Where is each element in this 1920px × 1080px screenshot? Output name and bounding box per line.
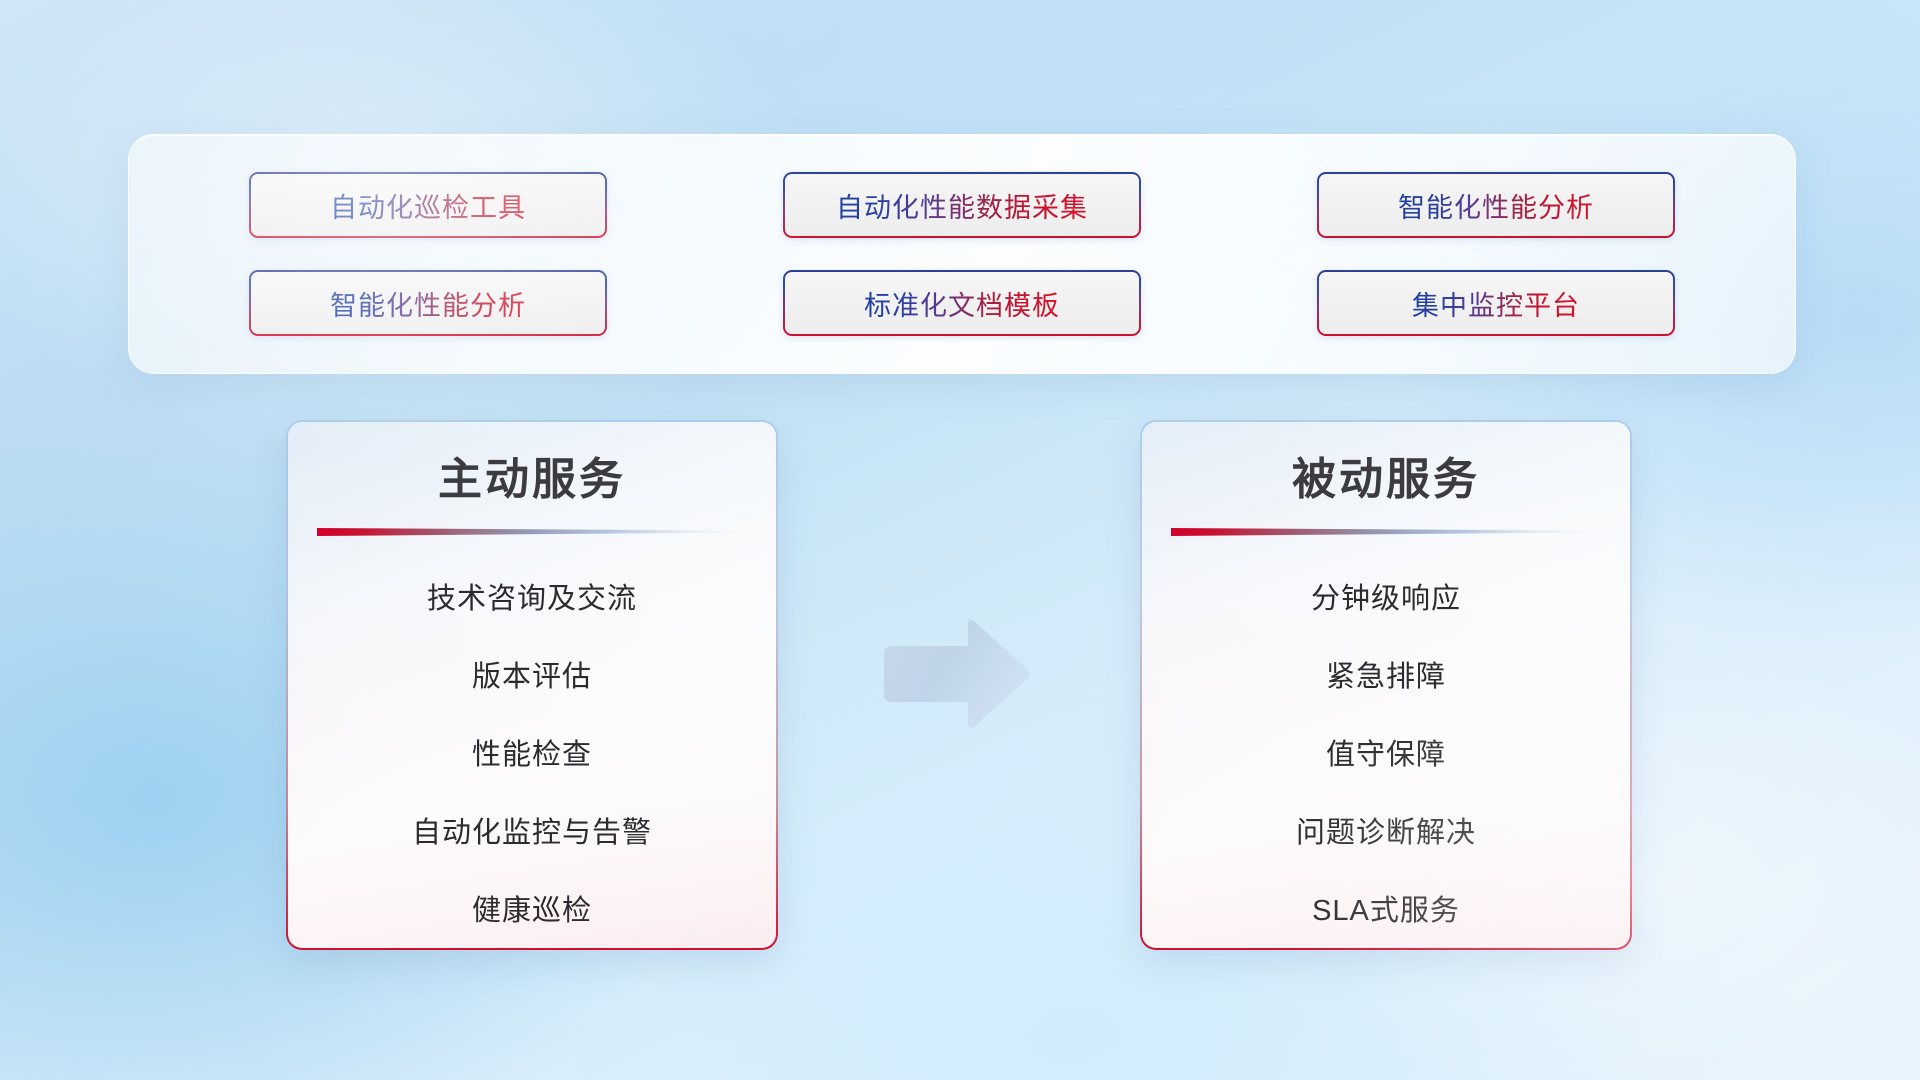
capability-tag[interactable]: 自动化巡检工具	[249, 172, 607, 238]
capability-tag-label: 集中监控平台	[1412, 284, 1580, 323]
capability-tag-label: 智能化性能分析	[330, 284, 526, 323]
service-item: 版本评估	[472, 649, 592, 706]
capability-tag-label: 自动化性能数据采集	[836, 186, 1088, 225]
service-item: 分钟级响应	[1311, 571, 1461, 628]
capability-tag[interactable]: 集中监控平台	[1317, 270, 1675, 336]
service-card-surface: 被动服务	[1142, 422, 1630, 948]
service-card-title: 主动服务	[438, 452, 626, 507]
capability-panel: 自动化巡检工具 自动化性能数据采集 智能化性能分析 智能化性能分析 标准化文档模…	[128, 134, 1796, 374]
service-item: 性能检查	[472, 727, 592, 784]
service-item-list: 分钟级响应 紧急排障 值守保障 问题诊断解决 SLA式服务	[1142, 571, 1630, 940]
capability-tag-surface: 自动化巡检工具	[251, 174, 605, 236]
service-item-list: 技术咨询及交流 版本评估 性能检查 自动化监控与告警 健康巡检	[288, 571, 776, 940]
service-item: 健康巡检	[472, 883, 592, 940]
title-divider	[317, 525, 747, 541]
capability-tag-surface: 标准化文档模板	[785, 272, 1139, 334]
service-item: 值守保障	[1326, 727, 1446, 784]
service-card-proactive: 主动服务	[286, 420, 778, 950]
arrow-right-icon	[876, 614, 1036, 734]
capability-tag[interactable]: 智能化性能分析	[1317, 172, 1675, 238]
service-item: 问题诊断解决	[1296, 805, 1476, 862]
service-item: 自动化监控与告警	[412, 805, 652, 862]
service-item: SLA式服务	[1312, 883, 1460, 940]
service-card-surface: 主动服务	[288, 422, 776, 948]
capability-tag-surface: 智能化性能分析	[1319, 174, 1673, 236]
capability-tag-label: 智能化性能分析	[1398, 186, 1594, 225]
capability-tag[interactable]: 标准化文档模板	[783, 270, 1141, 336]
service-card-reactive: 被动服务	[1140, 420, 1632, 950]
title-divider	[1171, 525, 1601, 541]
capability-tag-surface: 智能化性能分析	[251, 272, 605, 334]
service-item: 紧急排障	[1326, 649, 1446, 706]
service-item: 技术咨询及交流	[427, 571, 637, 628]
service-card-title: 被动服务	[1292, 452, 1480, 507]
capability-tag-surface: 自动化性能数据采集	[785, 174, 1139, 236]
capability-tag-surface: 集中监控平台	[1319, 272, 1673, 334]
capability-tag-label: 自动化巡检工具	[330, 186, 526, 225]
capability-tag[interactable]: 智能化性能分析	[249, 270, 607, 336]
capability-tag[interactable]: 自动化性能数据采集	[783, 172, 1141, 238]
capability-tag-label: 标准化文档模板	[864, 284, 1060, 323]
diagram-canvas: 自动化巡检工具 自动化性能数据采集 智能化性能分析 智能化性能分析 标准化文档模…	[0, 0, 1920, 1080]
